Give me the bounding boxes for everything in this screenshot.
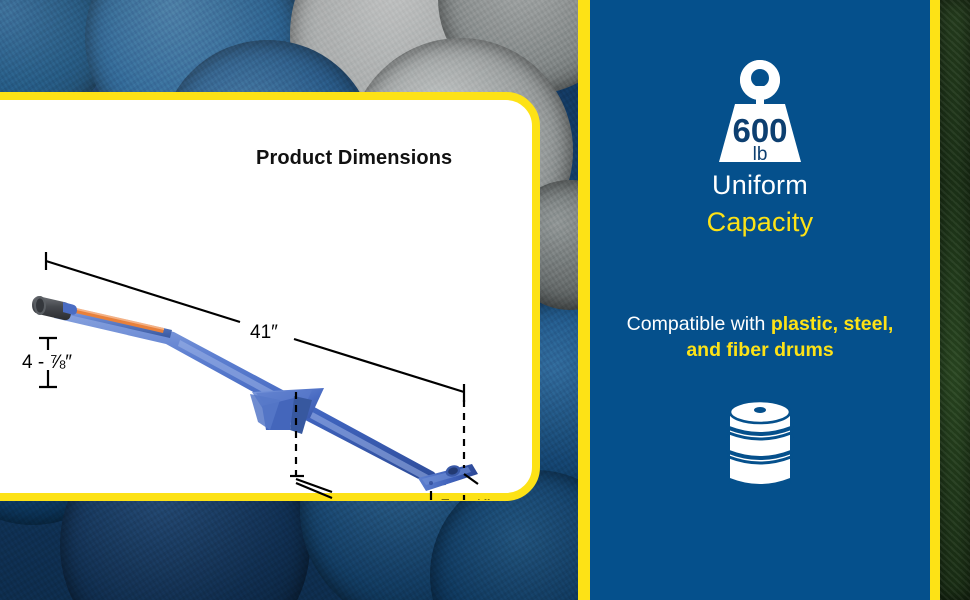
feature-panel: 600 lb Uniform Capacity Compatible with … [590,0,930,600]
compatibility-prefix: Compatible with [627,313,771,335]
capacity-line-uniform: Uniform [590,170,930,201]
divider-stripe-left [578,0,590,600]
dimension-label-foot: 5 - ⅞″ [440,497,490,500]
product-dimensions-illustration: 41″ 4 - ⅞″ 13 - ¼″ 5 - ⅞″ [0,100,534,500]
dimension-label-height: 4 - ⅞″ [22,352,72,373]
fulcrum-plate [250,388,324,434]
handle-grip [32,296,77,320]
drum-icon [708,392,812,496]
weight-icon: 600 lb [699,56,821,166]
weight-icon-unit: lb [753,144,768,165]
background-photo-right [940,0,970,600]
infographic-root: Product Dimensions [0,0,970,600]
compatibility-text: Compatible with plastic, steel, and fibe… [614,312,906,363]
dimension-label-length: 41″ [250,322,278,343]
capacity-line-capacity: Capacity [590,207,930,238]
product-dimensions-card: Product Dimensions [0,92,540,501]
